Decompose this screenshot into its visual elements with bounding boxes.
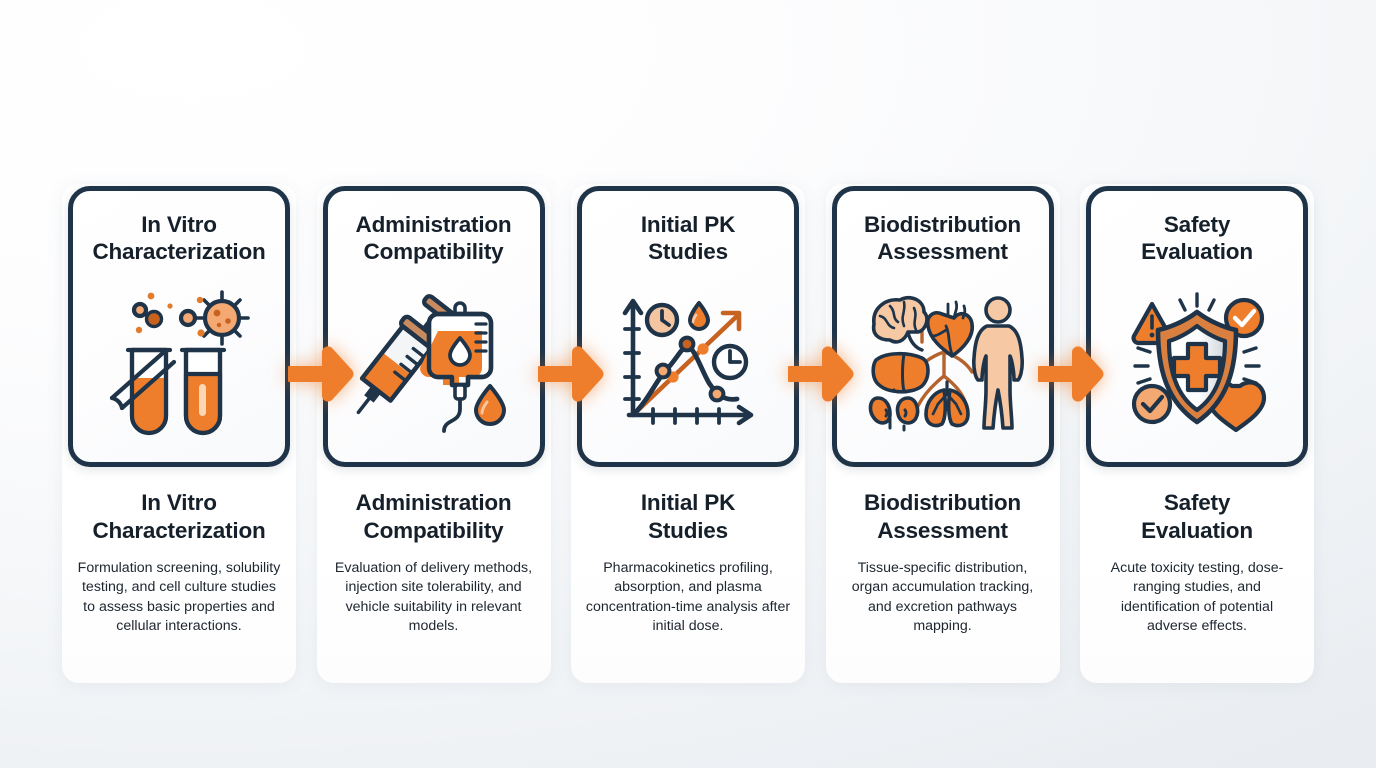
step-administration-compatibility[interactable]: Administration Compatibility (317, 184, 551, 683)
card-title-administration-compatibility: Administration Compatibility (334, 211, 534, 265)
step-title-administration-compatibility: Administration Compatibility (327, 489, 541, 545)
step-title-biodistribution-assessment: Biodistribution Assessment (836, 489, 1050, 545)
pk-curve-chart-icon (582, 265, 794, 462)
card-title-safety-evaluation: Safety Evaluation (1097, 211, 1297, 265)
card-title-line-2: Evaluation (1097, 238, 1297, 265)
arrow-right-icon-4 (1038, 345, 1106, 409)
card-title-line-1: Safety (1097, 211, 1297, 238)
step-title-line-1: Safety (1090, 489, 1304, 517)
step-title-line-1: Biodistribution (836, 489, 1050, 517)
step-title-initial-pk-studies: Initial PK Studies (581, 489, 795, 545)
step-title-line-2: Assessment (836, 517, 1050, 545)
process-flow-row: In Vitro Characterization (62, 184, 1314, 684)
step-card-biodistribution-assessment[interactable]: Biodistribution Assessment (832, 186, 1054, 467)
card-title-biodistribution-assessment: Biodistribution Assessment (843, 211, 1043, 265)
test-tubes-icon (73, 265, 285, 462)
step-in-vitro-characterization[interactable]: In Vitro Characterization (62, 184, 296, 683)
card-title-line-1: Biodistribution (843, 211, 1043, 238)
step-description-administration-compatibility: Evaluation of delivery methods, injectio… (331, 559, 536, 637)
card-title-line-1: Initial PK (588, 211, 788, 238)
card-title-initial-pk-studies: Initial PK Studies (588, 211, 788, 265)
card-title-line-2: Studies (588, 238, 788, 265)
diagram-canvas: In Vitro Characterization (0, 0, 1376, 768)
shield-cross-safety-icon (1091, 265, 1303, 462)
step-title-line-1: Administration (327, 489, 541, 517)
step-description-initial-pk-studies: Pharmacokinetics profiling, absorption, … (586, 559, 791, 637)
step-title-in-vitro-characterization: In Vitro Characterization (72, 489, 286, 545)
step-description-biodistribution-assessment: Tissue-specific distribution, organ accu… (840, 559, 1045, 637)
arrow-right-icon-1 (288, 345, 356, 409)
step-title-line-2: Compatibility (327, 517, 541, 545)
card-title-line-2: Assessment (843, 238, 1043, 265)
step-title-line-2: Studies (581, 517, 795, 545)
step-safety-evaluation[interactable]: Safety Evaluation (1080, 184, 1314, 683)
step-title-line-2: Evaluation (1090, 517, 1304, 545)
step-title-line-1: In Vitro (72, 489, 286, 517)
card-title-line-1: Administration (334, 211, 534, 238)
step-title-line-2: Characterization (72, 517, 286, 545)
card-title-in-vitro-characterization: In Vitro Characterization (79, 211, 279, 265)
card-title-line-1: In Vitro (79, 211, 279, 238)
step-card-initial-pk-studies[interactable]: Initial PK Studies (577, 186, 799, 467)
step-card-safety-evaluation[interactable]: Safety Evaluation (1086, 186, 1308, 467)
step-title-safety-evaluation: Safety Evaluation (1090, 489, 1304, 545)
organs-body-icon (837, 265, 1049, 462)
card-title-line-2: Characterization (79, 238, 279, 265)
arrow-right-icon-3 (788, 345, 856, 409)
step-description-safety-evaluation: Acute toxicity testing, dose-ranging stu… (1095, 559, 1300, 637)
card-title-line-2: Compatibility (334, 238, 534, 265)
step-biodistribution-assessment[interactable]: Biodistribution Assessment (826, 184, 1060, 683)
syringe-iv-bag-icon (328, 265, 540, 462)
step-description-in-vitro-characterization: Formulation screening, solubility testin… (77, 559, 282, 637)
step-card-in-vitro-characterization[interactable]: In Vitro Characterization (68, 186, 290, 467)
step-card-administration-compatibility[interactable]: Administration Compatibility (323, 186, 545, 467)
step-title-line-1: Initial PK (581, 489, 795, 517)
step-initial-pk-studies[interactable]: Initial PK Studies (571, 184, 805, 683)
arrow-right-icon-2 (538, 345, 606, 409)
